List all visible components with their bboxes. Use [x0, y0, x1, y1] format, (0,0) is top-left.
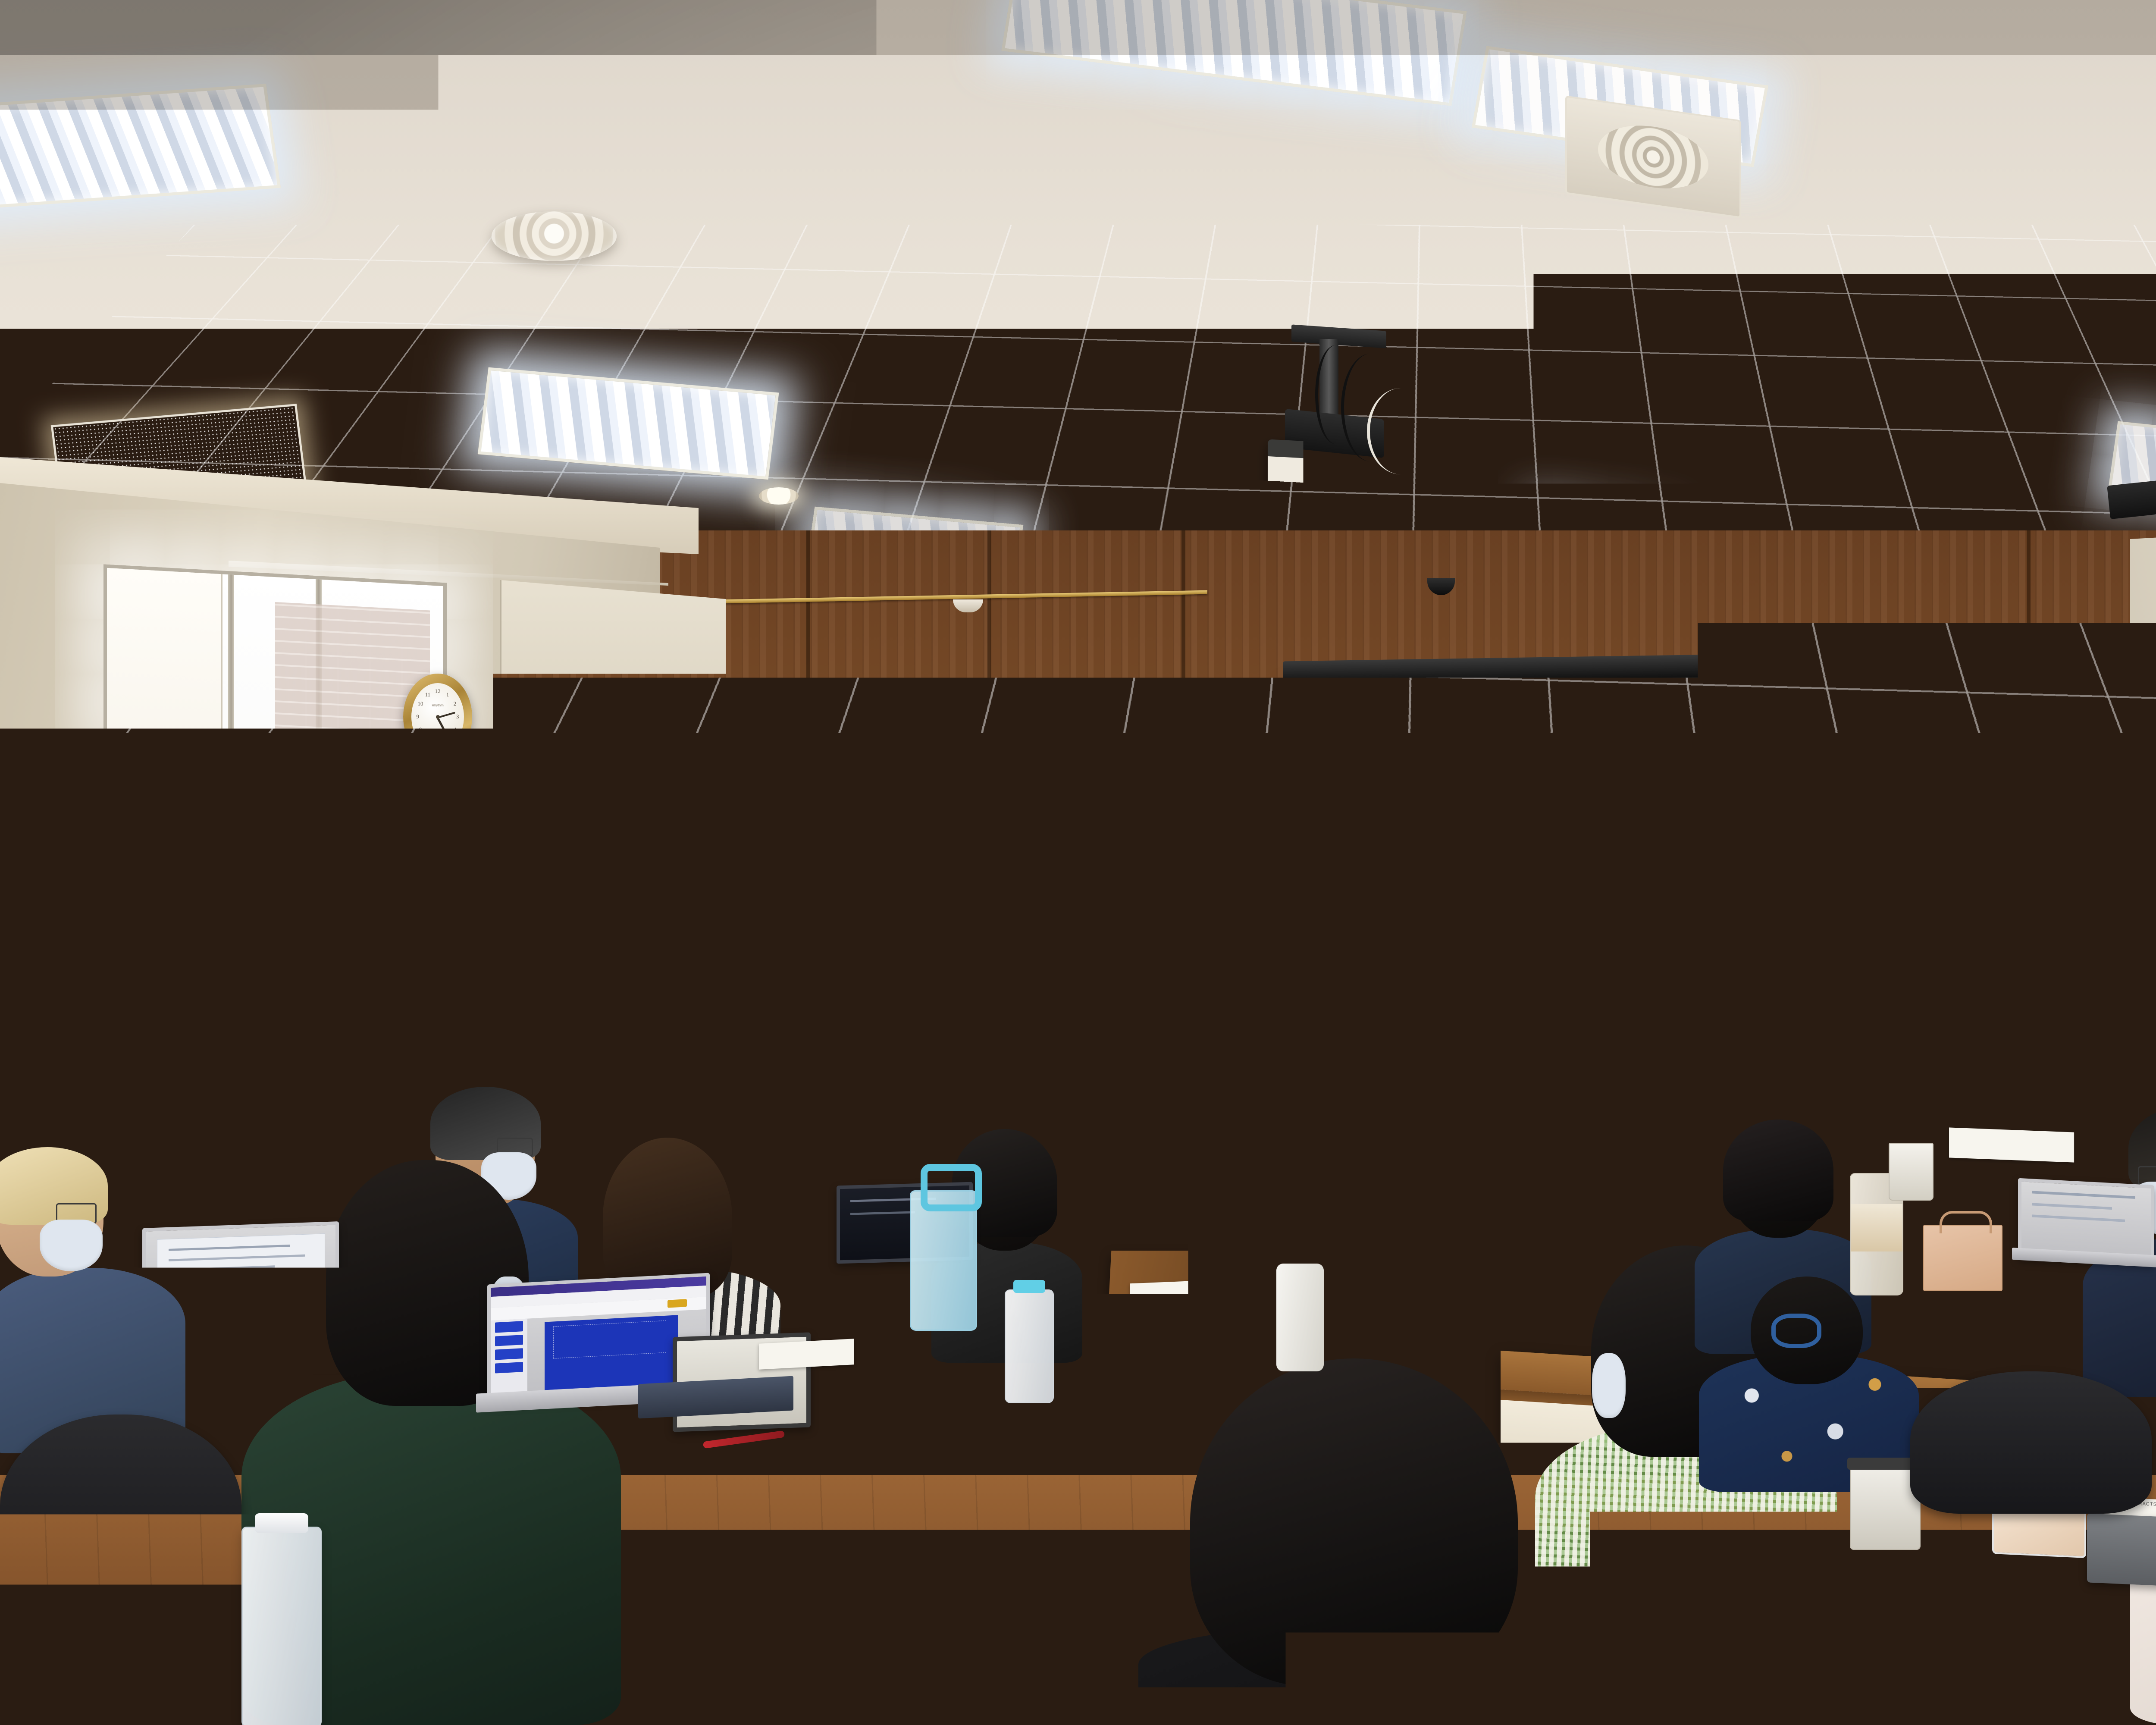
tv-slide-date: 2022/10/14 [2088, 787, 2156, 806]
exterior-brick-wall [275, 602, 430, 975]
clock-numeral: 10 [417, 700, 423, 707]
hair-clip [1771, 1314, 1821, 1348]
slide-overlay-icon[interactable] [1955, 992, 1974, 1011]
clock-numeral: 4 [454, 726, 457, 733]
clock-center-pin [436, 715, 440, 719]
bottle-cap[interactable] [255, 1513, 308, 1533]
bottle-label [1851, 1204, 1902, 1251]
window-latch[interactable] [225, 756, 238, 783]
institute-seal-icon [1613, 947, 1683, 1018]
person-hair [1190, 1358, 1518, 1686]
audience-chair[interactable] [742, 1647, 966, 1725]
bottle-handle[interactable] [921, 1164, 982, 1211]
confidence-monitor [802, 1032, 927, 1133]
clock-numeral: 7 [426, 735, 429, 742]
presentation-exit-toolbar[interactable]: › 結束放映以離開全螢幕 [1493, 1025, 1752, 1046]
handout-paper[interactable] [1130, 1278, 1259, 1323]
clock-numeral: 3 [456, 713, 459, 720]
person-face-mask [40, 1220, 103, 1271]
clock-numeral: 6 [436, 739, 439, 746]
bottle-cap[interactable] [1013, 1280, 1045, 1293]
slide-thumbnail[interactable] [495, 1362, 523, 1374]
tv-slide-body: Wen-Chin Wu (吳文欽 ) Associate Research Fe… [2087, 744, 2156, 787]
clock-face: Rhythm 121234567891011 [411, 683, 464, 750]
projection-screen: 您正在共用 Adobe Acrobat ⏹ Comments on Lin & … [1287, 667, 2016, 1088]
acrobat-banner-text: 您正在共用 Adobe Acrobat [1592, 687, 1681, 697]
water-bottle[interactable] [241, 1527, 322, 1725]
wall-tv-monitor: Comments on Lin & Wu (2022) Wen-Chin Wu … [2068, 687, 2156, 879]
clock-hour-hand [437, 717, 445, 730]
clock-brand: Rhythm [432, 703, 444, 707]
clock-numeral: 2 [454, 700, 457, 707]
handout-paper[interactable] [759, 1339, 854, 1370]
window-blind[interactable] [107, 568, 222, 988]
water-bottle[interactable] [910, 1190, 977, 1331]
ceiling-speaker [2107, 480, 2156, 519]
water-bottle[interactable] [1005, 1289, 1054, 1403]
audience-chair[interactable] [0, 1414, 241, 1604]
slide-author-block: Wen-Chin Wu (吳文欽 ) Associate Research Fe… [1297, 804, 1999, 895]
presenter-hand-left [1096, 1015, 1129, 1057]
clock-numeral: 5 [446, 735, 449, 742]
slide-thumbnail[interactable] [495, 1335, 523, 1346]
slide-date: 2022/10/14 [1297, 910, 1999, 934]
audience-chair[interactable] [1910, 1371, 2152, 1514]
clock-numeral: 11 [425, 691, 431, 698]
conference-room-photo: Rhythm 121234567891011 Wi-Fi [ Network ]… [0, 0, 2156, 1725]
presentation-exit-label: 結束放映以離開全螢幕 [1517, 1032, 1595, 1041]
clock-numeral: 8 [419, 726, 422, 733]
paper-gift-box[interactable] [1923, 1225, 2002, 1291]
laptop-screen[interactable] [142, 1221, 339, 1336]
audience-chair[interactable] [1488, 1604, 1755, 1725]
clock-numeral: 9 [417, 713, 420, 720]
roller-blind[interactable] [500, 580, 726, 847]
box-handle [1940, 1211, 1992, 1233]
projected-slide: 您正在共用 Adobe Acrobat ⏹ Comments on Lin & … [1297, 679, 1999, 1070]
acrobat-sharing-banner: 您正在共用 Adobe Acrobat ⏹ [1549, 684, 1724, 701]
slide-title: Comments on Lin & Wu (2022) [1297, 744, 1999, 777]
head-table-chair[interactable] [1423, 1160, 1514, 1238]
presenter-hair [1121, 901, 1205, 941]
acrobat-stop-icon[interactable]: ⏹ [1705, 687, 1714, 696]
tv-slide-title: Comments on Lin & Wu (2022) [2087, 723, 2156, 744]
projector-lens [1285, 487, 1311, 514]
laptop[interactable] [2018, 1182, 2156, 1276]
slide-thumbnail[interactable] [495, 1321, 523, 1333]
projector-ports [1376, 492, 1449, 516]
presenter-mask-trim [1127, 947, 1200, 959]
wall-clock: Rhythm 121234567891011 [403, 674, 472, 760]
laptop[interactable] [142, 1225, 345, 1354]
handout-paper[interactable] [1949, 1127, 2074, 1162]
person-hair [1723, 1120, 1833, 1221]
clock-minute-hand [437, 712, 455, 718]
coffee-cup[interactable] [1889, 1143, 1934, 1201]
wall-notice-paper [901, 938, 955, 1014]
thermos-bottle[interactable] [1276, 1264, 1324, 1371]
presenter-name-badge [1142, 1054, 1180, 1105]
clock-numeral: 12 [435, 688, 440, 695]
person-hair [603, 1138, 732, 1297]
clock-numeral: 1 [446, 691, 449, 698]
speaker-brand-logo [1064, 766, 1087, 776]
chevron-right-icon: › [1503, 1029, 1507, 1046]
slide-thumbnail[interactable] [495, 1348, 523, 1360]
tv-mirrored-slide: Comments on Lin & Wu (2022) Wen-Chin Wu … [2087, 703, 2156, 855]
wall-loudspeaker [1039, 701, 1112, 809]
projector-cable [1367, 388, 1435, 474]
person-face-mask [1592, 1353, 1626, 1418]
window [103, 564, 447, 1004]
laptop-sleeve [2087, 1513, 2156, 1591]
